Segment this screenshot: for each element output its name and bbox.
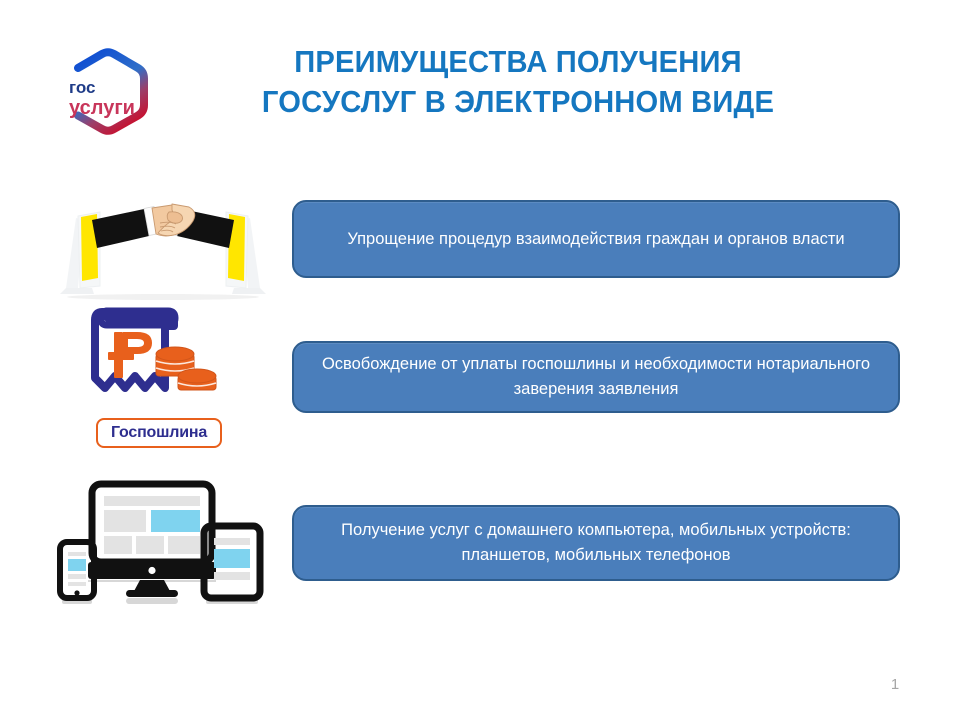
state-fee-label: Госпошлина (96, 418, 222, 448)
page-title-line-2: ГОСУСЛУГ В ЭЛЕКТРОННОМ ВИДЕ (189, 82, 847, 122)
benefit-box-1[interactable]: Упрощение процедур взаимодействия гражда… (292, 200, 900, 278)
slide-canvas: гос услуги ПРЕИМУЩЕСТВА ПОЛУЧЕНИЯ ГОСУСЛ… (0, 0, 960, 720)
gosuslugi-logo: гос услуги (56, 42, 168, 138)
benefit-box-2[interactable]: Освобождение от уплаты госпошлины и необ… (292, 341, 900, 413)
logo-text-bottom: услуги (69, 97, 135, 119)
benefit-box-3[interactable]: Получение услуг с домашнего компьютера, … (292, 505, 900, 581)
state-fee-receipt-icon: Госпошлина (82, 296, 242, 458)
page-title: ПРЕИМУЩЕСТВА ПОЛУЧЕНИЯ ГОСУСЛУГ В ЭЛЕКТР… (189, 42, 847, 122)
page-number: 1 (880, 676, 910, 693)
page-title-line-1: ПРЕИМУЩЕСТВА ПОЛУЧЕНИЯ (189, 42, 847, 82)
benefit-box-2-text: Освобождение от уплаты госпошлины и необ… (310, 352, 882, 402)
benefit-box-1-text: Упрощение процедур взаимодействия гражда… (347, 227, 844, 252)
benefit-box-3-text: Получение услуг с домашнего компьютера, … (310, 518, 882, 568)
logo-text-top: гос (69, 78, 95, 97)
devices-icon (52, 476, 278, 606)
handshake-icon (48, 190, 278, 302)
